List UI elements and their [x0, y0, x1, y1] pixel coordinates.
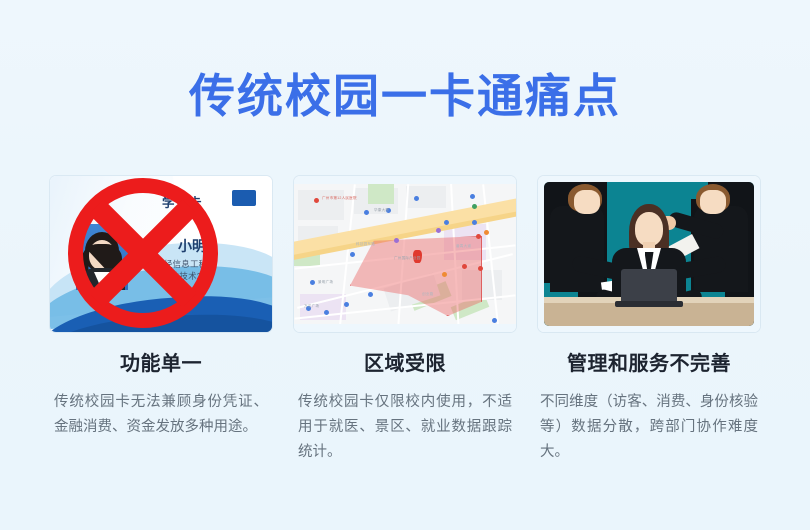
laptop-base: [615, 301, 683, 307]
map-poi-icon: [472, 220, 477, 225]
pain-point-card-3: 管理和服务不完善 不同维度（访客、消费、身份核验等）数据分散，跨部门协作难度大。: [538, 176, 760, 465]
map-pad-top: [294, 176, 516, 184]
map-poi-icon: [462, 264, 467, 269]
map-illustration: 广州市第12人民医院 华康大厦 科技园东路 广州国际产业园 番禺大道 景明广场 …: [294, 176, 516, 332]
office-illustration: [538, 176, 760, 332]
map-label: 广州市第12人民医院: [322, 196, 357, 201]
map-green-area: [368, 184, 394, 204]
map-poi-icon: [344, 302, 349, 307]
map-poi-icon: [324, 310, 329, 315]
pain-point-card-1: 学生卡 小明 23经信息工程系 软件技术2班 功能单一 传统校园卡无法兼顾身份凭…: [50, 176, 272, 465]
pain-point-card-2: 广州市第12人民医院 华康大厦 科技园东路 广州国际产业园 番禺大道 景明广场 …: [294, 176, 516, 465]
map-block: [406, 186, 446, 208]
map-poi-icon: [476, 234, 481, 239]
page-title: 传统校园一卡通痛点: [189, 72, 621, 120]
map-label: 万达广场: [304, 304, 319, 309]
map-poi-icon: [442, 272, 447, 277]
map-poi-icon: [368, 292, 373, 297]
laptop-icon: [621, 269, 677, 303]
map-poi-icon: [314, 198, 319, 203]
slide-root: 传统校园一卡通痛点 学生: [0, 0, 810, 530]
colleague-right-face-icon: [700, 190, 726, 214]
map-poi-icon: [394, 238, 399, 243]
map-pad-bottom: [294, 324, 516, 332]
map-poi-icon: [470, 194, 475, 199]
office-illustration-image: [538, 176, 760, 332]
map-poi-icon: [414, 196, 419, 201]
map-poi-icon: [492, 318, 497, 323]
prohibition-mark-icon: [68, 178, 218, 328]
colleague-left-body: [550, 206, 604, 292]
map-poi-icon: [364, 210, 369, 215]
map-poi-icon: [444, 220, 449, 225]
colleague-left-face-icon: [574, 190, 600, 214]
map-poi-icon: [436, 228, 441, 233]
map-poi-icon: [472, 204, 477, 209]
map-label: 华康大厦: [374, 208, 389, 213]
map-label: 广州国际产业园: [394, 256, 421, 261]
pain-point-heading-2: 区域受限: [294, 352, 516, 376]
map-canvas: 广州市第12人民医院 华康大厦 科技园东路 广州国际产业园 番禺大道 景明广场 …: [294, 184, 516, 324]
page-title-wrap: 传统校园一卡通痛点: [0, 72, 810, 120]
map-block: [298, 190, 344, 220]
map-poi-icon: [484, 230, 489, 235]
map-poi-icon: [310, 280, 315, 285]
central-figure-face-icon: [635, 212, 663, 246]
map-poi-icon: [478, 266, 483, 271]
map-label: 创业路: [422, 292, 433, 297]
id-card-chip-icon: [232, 190, 256, 206]
map-label: 科技园东路: [356, 242, 375, 247]
pain-point-columns: 学生卡 小明 23经信息工程系 软件技术2班 功能单一 传统校园卡无法兼顾身份凭…: [0, 176, 810, 465]
student-id-card-image: 学生卡 小明 23经信息工程系 软件技术2班: [50, 176, 272, 332]
map-label: 景明广场: [318, 280, 333, 285]
map-poi-icon: [350, 252, 355, 257]
office-frame: [544, 182, 754, 326]
pain-point-body-3: 不同维度（访客、消费、身份核验等）数据分散，跨部门协作难度大。: [538, 390, 760, 465]
pain-point-body-1: 传统校园卡无法兼顾身份凭证、金融消费、资金发放多种用途。: [50, 390, 272, 440]
map-label: 番禺大道: [456, 244, 471, 249]
map-image: 广州市第12人民医院 华康大厦 科技园东路 广州国际产业园 番禺大道 景明广场 …: [294, 176, 516, 332]
pain-point-body-2: 传统校园卡仅限校内使用，不适用于就医、景区、就业数据跟踪统计。: [294, 390, 516, 465]
pain-point-heading-1: 功能单一: [50, 352, 272, 376]
pain-point-heading-3: 管理和服务不完善: [538, 352, 760, 376]
